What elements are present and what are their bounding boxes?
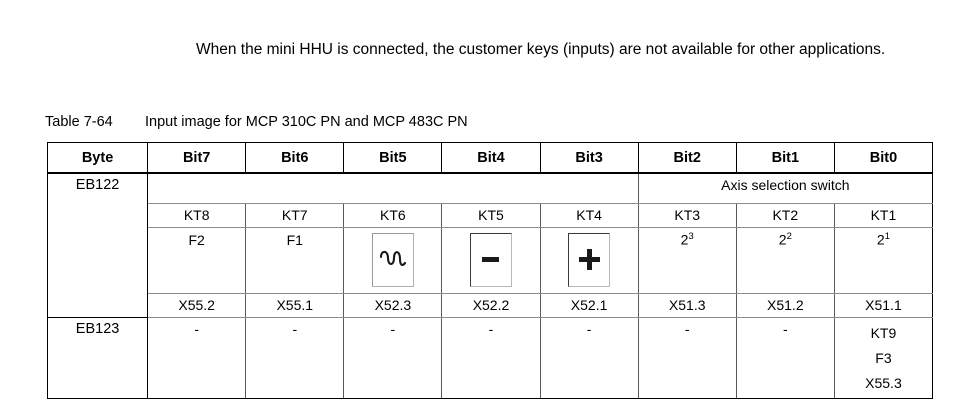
eb123-bit0-key: KT9 <box>837 321 930 346</box>
key-legend-bit4 <box>442 227 540 293</box>
weight-value-bit1: 22 <box>736 227 834 293</box>
column-header-byte: Byte <box>48 143 148 174</box>
plus-key-icon <box>568 233 610 287</box>
eb122-unassigned-span <box>148 173 639 203</box>
key-name-kt2: KT2 <box>736 203 834 227</box>
eb123-bit3: - <box>540 317 638 398</box>
intro-note: When the mini HHU is connected, the cust… <box>196 38 908 61</box>
eb123-bit0: KT9 F3 X55.3 <box>834 317 932 398</box>
key-name-kt5: KT5 <box>442 203 540 227</box>
wave-key-icon <box>372 233 414 287</box>
byte-label-eb122: EB122 <box>48 173 148 317</box>
table-row: KT8 KT7 KT6 KT5 KT4 KT3 KT2 KT1 <box>48 203 933 227</box>
column-header-bit6: Bit6 <box>246 143 344 174</box>
connector-bit4: X52.2 <box>442 293 540 317</box>
eb123-bit4: - <box>442 317 540 398</box>
key-name-kt3: KT3 <box>638 203 736 227</box>
connector-bit0: X51.1 <box>834 293 932 317</box>
key-label-f1: F1 <box>248 231 341 249</box>
connector-bit6: X55.1 <box>246 293 344 317</box>
table-caption: Table 7-64Input image for MCP 310C PN an… <box>45 113 468 131</box>
weight-base-bit0: 2 <box>877 231 885 247</box>
minus-key-icon <box>470 233 512 287</box>
weight-exp-bit1: 2 <box>787 231 792 242</box>
table-row: X55.2 X55.1 X52.3 X52.2 X52.1 X51.3 X51.… <box>48 293 933 317</box>
eb123-bit2: - <box>638 317 736 398</box>
eb123-bit7: - <box>148 317 246 398</box>
table-row: EB123 - - - - - - - KT9 F3 X55.3 <box>48 317 933 398</box>
eb123-bit6: - <box>246 317 344 398</box>
key-name-kt6: KT6 <box>344 203 442 227</box>
column-header-bit2: Bit2 <box>638 143 736 174</box>
connector-bit5: X52.3 <box>344 293 442 317</box>
weight-value-bit2: 23 <box>638 227 736 293</box>
key-legend-bit7: F2 <box>148 227 246 293</box>
weight-exp-bit2: 3 <box>688 231 693 242</box>
connector-bit7: X55.2 <box>148 293 246 317</box>
column-header-bit5: Bit5 <box>344 143 442 174</box>
key-legend-bit5 <box>344 227 442 293</box>
table-header-row: Byte Bit7 Bit6 Bit5 Bit4 Bit3 Bit2 Bit1 … <box>48 143 933 174</box>
weight-base-bit1: 2 <box>779 231 787 247</box>
column-header-bit1: Bit1 <box>736 143 834 174</box>
table-row: EB122 Axis selection switch <box>48 173 933 203</box>
key-legend-bit6: F1 <box>246 227 344 293</box>
key-name-kt7: KT7 <box>246 203 344 227</box>
eb123-bit1: - <box>736 317 834 398</box>
key-name-kt8: KT8 <box>148 203 246 227</box>
column-header-bit4: Bit4 <box>442 143 540 174</box>
key-label-f2: F2 <box>150 231 243 249</box>
column-header-bit3: Bit3 <box>540 143 638 174</box>
input-image-table: Byte Bit7 Bit6 Bit5 Bit4 Bit3 Bit2 Bit1 … <box>47 142 933 399</box>
axis-selection-switch-label: Axis selection switch <box>638 173 932 203</box>
weight-value-bit0: 21 <box>834 227 932 293</box>
eb123-bit0-connector: X55.3 <box>837 371 930 396</box>
table-caption-number: Table 7-64 <box>45 113 145 131</box>
table-caption-text: Input image for MCP 310C PN and MCP 483C… <box>145 114 468 130</box>
column-header-bit7: Bit7 <box>148 143 246 174</box>
key-legend-bit3 <box>540 227 638 293</box>
connector-bit3: X52.1 <box>540 293 638 317</box>
weight-exp-bit0: 1 <box>885 231 890 242</box>
connector-bit1: X51.2 <box>736 293 834 317</box>
key-name-kt4: KT4 <box>540 203 638 227</box>
connector-bit2: X51.3 <box>638 293 736 317</box>
key-name-kt1: KT1 <box>834 203 932 227</box>
table-row: F2 F1 <box>48 227 933 293</box>
byte-label-eb123: EB123 <box>48 317 148 398</box>
column-header-bit0: Bit0 <box>834 143 932 174</box>
eb123-bit0-function: F3 <box>837 346 930 371</box>
eb123-bit5: - <box>344 317 442 398</box>
